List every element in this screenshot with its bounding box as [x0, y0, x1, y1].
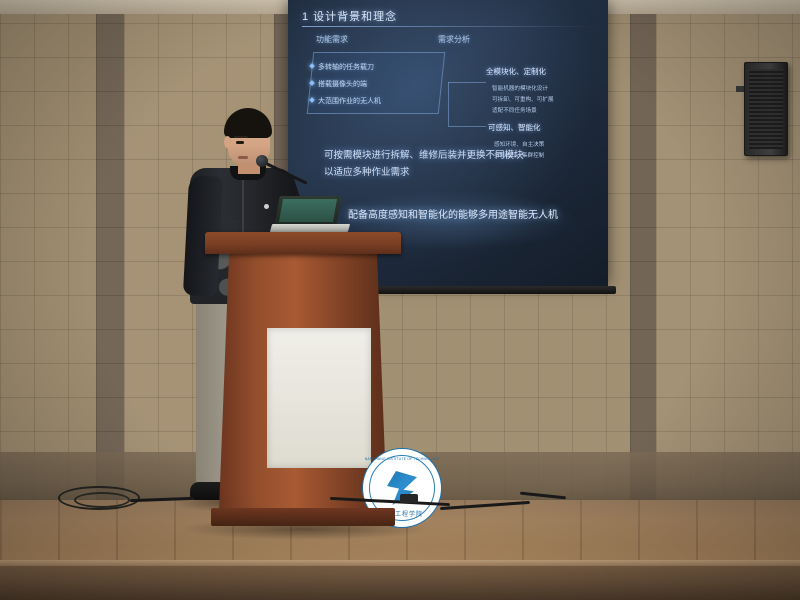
slide-title-rule — [302, 26, 594, 27]
slide-bullet: 大范围作业的无人机 — [318, 96, 381, 106]
slide-bullet: 多转轴的任务载刀 — [318, 62, 374, 72]
wall-divider-3 — [630, 0, 656, 500]
stage-front-face — [0, 566, 800, 600]
slide-section-right: 需求分析 — [438, 34, 470, 45]
floor-cable-coil — [74, 492, 130, 508]
slide-node-item: 感知环境、自主决策 — [494, 140, 544, 148]
jacket-logo-icon — [264, 204, 269, 209]
slide-connector-line — [448, 82, 486, 83]
wall-speaker — [744, 62, 788, 156]
presenter-hair — [224, 108, 272, 138]
podium: NANCHANG INSTITUTE OF TECHNOLOGY 南昌工程学院 — [205, 232, 401, 532]
speaker-grille-icon — [749, 69, 783, 149]
laptop-keyboard-base[interactable] — [270, 224, 350, 232]
slide-title: 1 设计背景和理念 — [302, 8, 397, 24]
podium-base — [211, 508, 395, 526]
podium-top-surface — [205, 232, 401, 254]
slide-node-item: 智能机器的模块化设计 — [492, 84, 548, 92]
slide-node-item: 可拆卸、可重构、可扩展 — [492, 95, 554, 103]
slide-connector-line — [448, 126, 486, 127]
slide-connector-line — [448, 82, 449, 126]
presenter-ear — [224, 136, 231, 148]
slide-node-item: 适配不同任务场景 — [492, 106, 537, 114]
presenter-eye — [236, 141, 244, 144]
presenter-eyebrow — [234, 136, 248, 138]
photo-scene: 1 设计背景和理念 功能需求 需求分析 多转轴的任务载刀 搭载摄像头的端 大范围… — [0, 0, 800, 600]
slide-bullet: 搭载摄像头的端 — [318, 79, 367, 89]
presenter-mouth — [238, 156, 248, 159]
slide-caption-line2: 以适应多种作业需求 — [324, 164, 410, 178]
emblem-top-text: NANCHANG INSTITUTE OF TECHNOLOGY — [363, 457, 441, 461]
podium-front-panel: NANCHANG INSTITUTE OF TECHNOLOGY 南昌工程学院 — [267, 328, 371, 468]
slide-node-heading: 全模块化、定制化 — [486, 66, 546, 77]
microphone-head-icon — [256, 155, 268, 167]
slide-caption-highlight: 配备高度感知和智能化的能够多用途智能无人机 — [348, 206, 558, 221]
wall-divider-1 — [96, 0, 124, 500]
cable-plug — [400, 494, 418, 503]
laptop-screen[interactable] — [279, 199, 337, 222]
wall-panel-1 — [0, 0, 96, 500]
slide-section-left: 功能需求 — [316, 34, 348, 45]
slide-caption-line1: 可按需模块进行拆解、维修后装并更换不同模块 — [324, 148, 524, 164]
slide-node-heading: 可感知、智能化 — [488, 122, 541, 133]
